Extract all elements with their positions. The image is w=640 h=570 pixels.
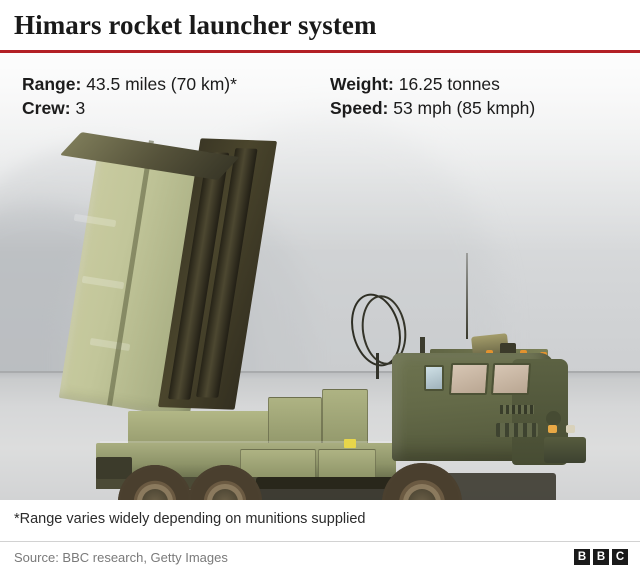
antenna-stem: [376, 353, 379, 379]
cab-window: [491, 363, 531, 395]
cab-marking: [500, 405, 534, 414]
infographic-card: Himars rocket launcher system: [0, 0, 640, 570]
stat-weight: Weight: 16.25 tonnes: [330, 72, 535, 96]
cab-side-window: [424, 365, 444, 391]
himars-vehicle: [0, 53, 640, 500]
stat-speed-value: 53 mph (85 kmph): [393, 98, 535, 118]
cab-fitting: [546, 411, 561, 426]
underbody-shadow: [256, 477, 396, 500]
rear-plate: [96, 457, 132, 479]
stat-range-label: Range:: [22, 74, 81, 94]
front-bumper: [544, 437, 586, 463]
bbc-logo-block-b2: B: [593, 549, 609, 565]
source-credit: Source: BBC research, Getty Images: [14, 549, 228, 566]
page-title: Himars rocket launcher system: [14, 9, 624, 41]
stat-crew-label: Crew:: [22, 98, 71, 118]
stat-speed-label: Speed:: [330, 98, 388, 118]
footer-divider: [0, 541, 640, 542]
footnote: *Range varies widely depending on muniti…: [14, 510, 626, 528]
stats-column-right: Weight: 16.25 tonnes Speed: 53 mph (85 k…: [330, 72, 535, 120]
stat-range: Range: 43.5 miles (70 km)*: [22, 72, 237, 96]
cab-window: [449, 363, 489, 395]
stat-crew-value: 3: [76, 98, 86, 118]
bbc-logo: B B C: [574, 549, 628, 565]
cab-vent: [496, 423, 538, 437]
headlamp: [566, 425, 575, 433]
stat-crew: Crew: 3: [22, 96, 237, 120]
stat-range-value: 43.5 miles (70 km)*: [86, 74, 237, 94]
stat-weight-value: 16.25 tonnes: [399, 74, 500, 94]
stat-speed: Speed: 53 mph (85 kmph): [330, 96, 535, 120]
vehicle-photo: [0, 53, 640, 500]
stats-column-left: Range: 43.5 miles (70 km)* Crew: 3: [22, 72, 237, 120]
stat-weight-label: Weight:: [330, 74, 394, 94]
yellow-marker: [344, 439, 356, 448]
bbc-logo-block-c: C: [612, 549, 628, 565]
headlamp: [548, 425, 557, 433]
whip-antenna: [466, 253, 468, 339]
bbc-logo-block-b1: B: [574, 549, 590, 565]
stats-block: Range: 43.5 miles (70 km)* Crew: 3 Weigh…: [0, 56, 640, 116]
